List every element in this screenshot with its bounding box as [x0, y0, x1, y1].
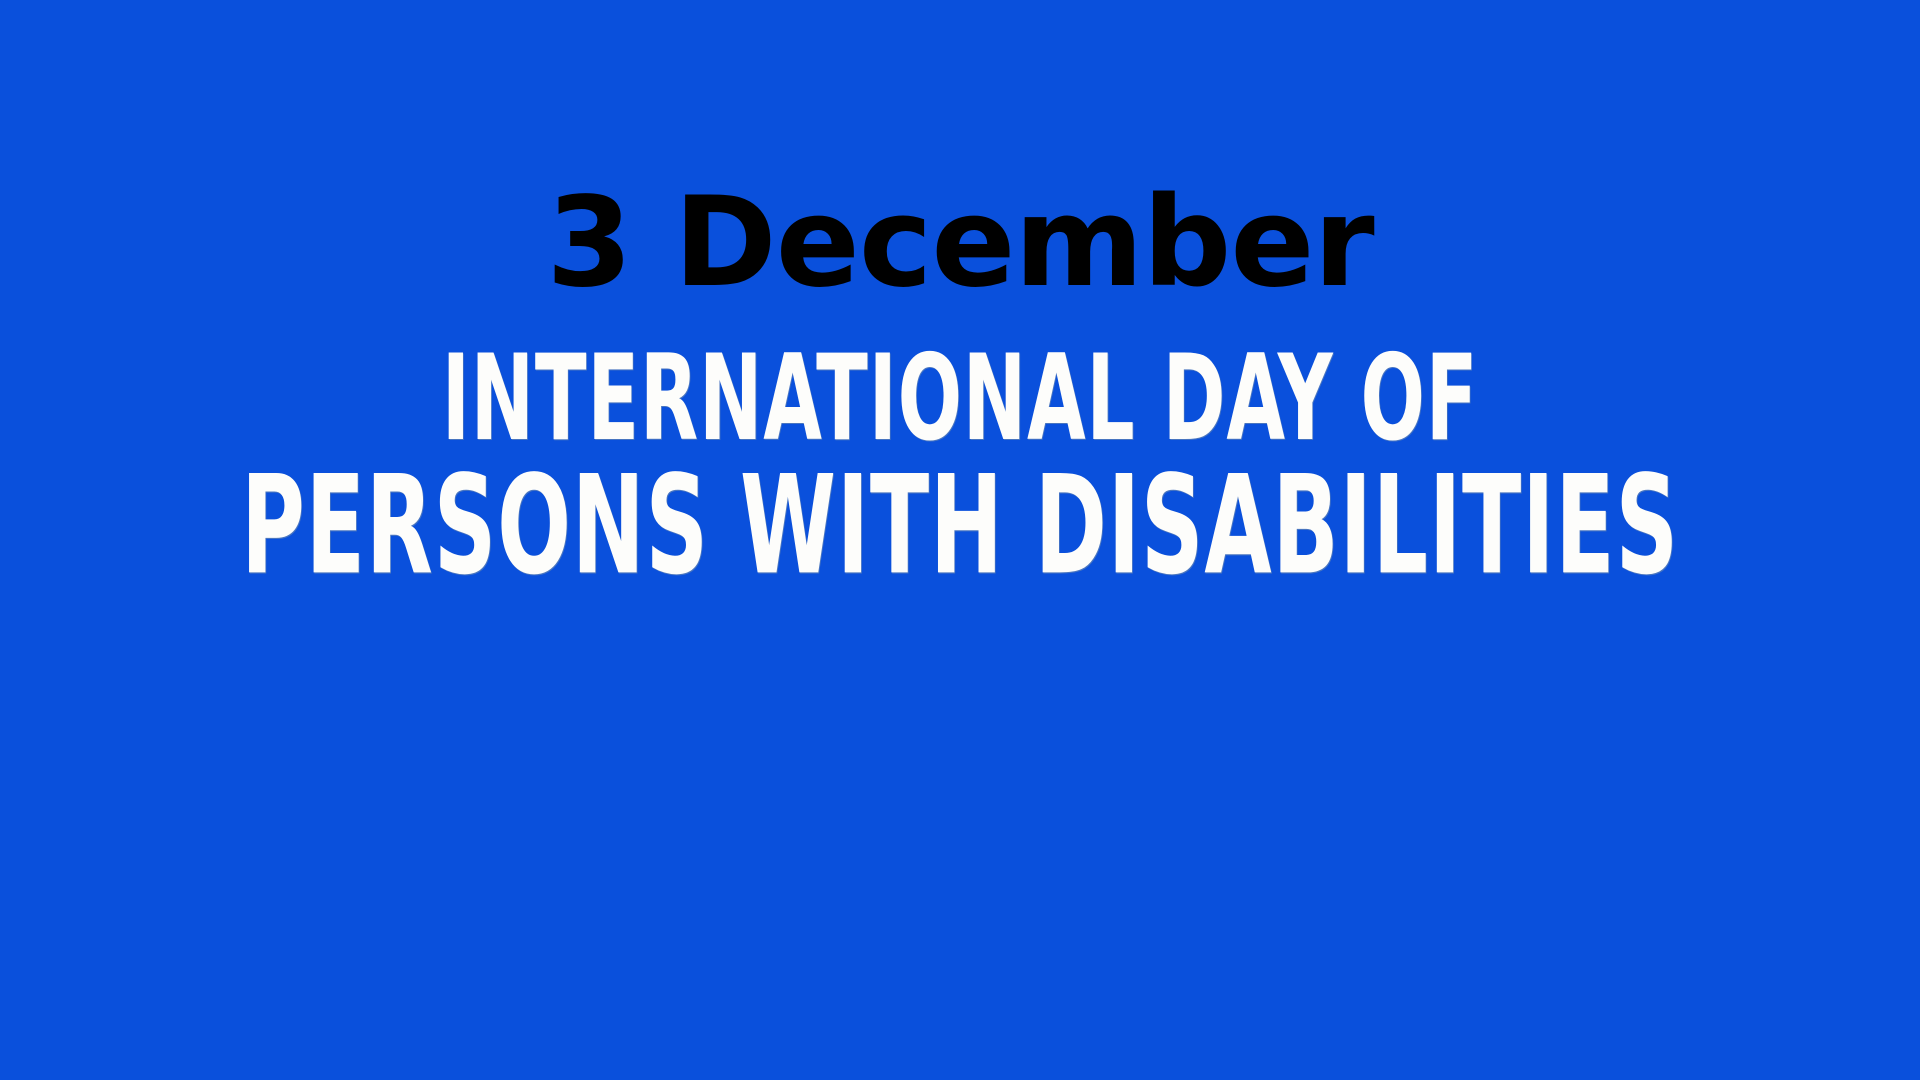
headline-block: INTERNATIONAL DAY OF PERSONS WITH DISABI… [0, 340, 1920, 582]
poster-canvas: 3 December INTERNATIONAL DAY OF PERSONS … [0, 0, 1920, 1080]
headline-line-1: INTERNATIONAL DAY OF [211, 340, 1709, 459]
headline-line-2: PERSONS WITH DISABILITIES [211, 458, 1709, 594]
date-label: 3 December [0, 178, 1920, 308]
